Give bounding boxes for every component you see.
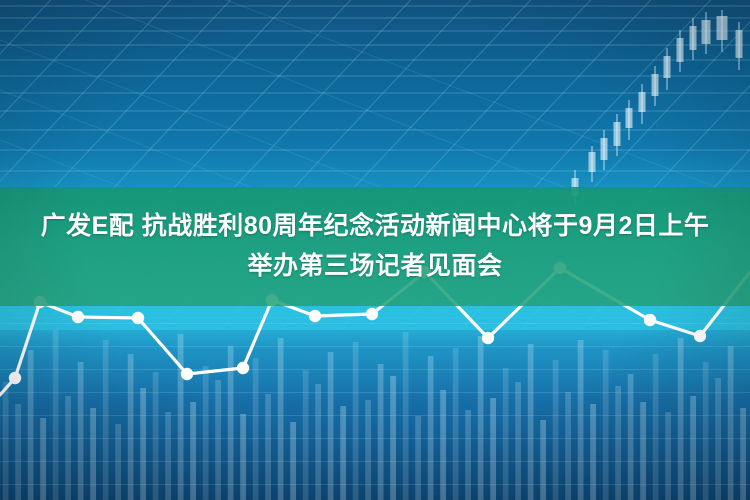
trend-marker [309, 310, 321, 322]
trend-marker [181, 368, 193, 380]
trend-marker [644, 314, 656, 326]
headline-line-1: 广发E配 抗战胜利80周年纪念活动新闻中心将于9月2日上午 [41, 209, 710, 245]
trend-marker [237, 362, 249, 374]
trend-marker [694, 330, 706, 342]
trend-marker [366, 308, 378, 320]
trend-marker [9, 372, 21, 384]
trend-marker [482, 332, 494, 344]
headline-text: 广发E配 抗战胜利80周年纪念活动新闻中心将于9月2日上午 举办第三场记者见面会 [0, 187, 750, 306]
headline-line-2: 举办第三场记者见面会 [247, 249, 502, 285]
trend-marker [72, 311, 84, 323]
trend-marker [132, 312, 144, 324]
banner-image: 广发E配 抗战胜利80周年纪念活动新闻中心将于9月2日上午 举办第三场记者见面会 [0, 0, 750, 500]
